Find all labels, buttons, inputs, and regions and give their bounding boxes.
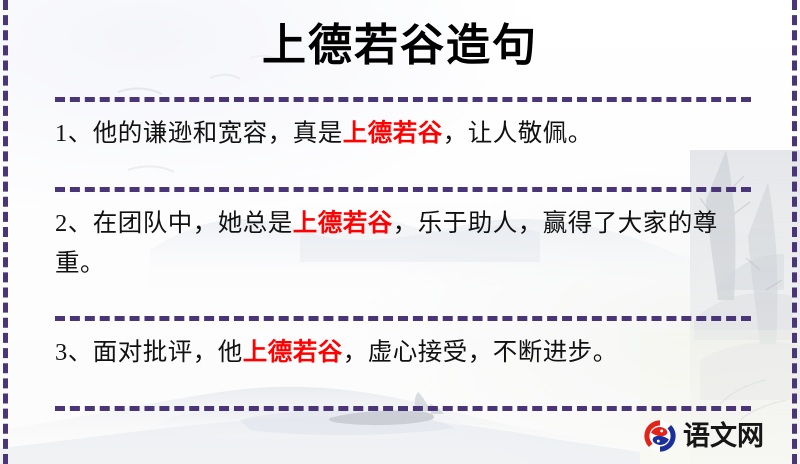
sentence-3-keyword: 上德若谷 bbox=[243, 339, 343, 366]
sentence-2-index: 2、 bbox=[55, 210, 93, 237]
sentence-3-before: 面对批评，他 bbox=[93, 339, 243, 366]
sentence-1-after: ，让人敬佩。 bbox=[443, 120, 593, 147]
sentence-3-index: 3、 bbox=[55, 339, 93, 366]
divider-rule-4 bbox=[55, 406, 751, 411]
yinyang-circle-icon bbox=[643, 419, 677, 453]
sentence-2-keyword: 上德若谷 bbox=[293, 210, 393, 237]
site-logo[interactable]: 语文网 bbox=[643, 419, 764, 453]
sentence-1-keyword: 上德若谷 bbox=[343, 120, 443, 147]
sentence-item-1: 1、他的谦逊和宽容，真是上德若谷，让人敬佩。 bbox=[18, 102, 782, 166]
sentence-item-2: 2、在团队中，她总是上德若谷，乐于助人，赢得了大家的尊重。 bbox=[18, 192, 782, 296]
right-dashed-border bbox=[792, 0, 797, 464]
site-logo-text: 语文网 bbox=[683, 423, 764, 450]
sentence-1-index: 1、 bbox=[55, 120, 93, 147]
sentence-item-3: 3、面对批评，他上德若谷，虚心接受，不断进步。 bbox=[18, 321, 782, 385]
sentence-3-after: ，虚心接受，不断进步。 bbox=[343, 339, 618, 366]
sentence-1-before: 他的谦逊和宽容，真是 bbox=[93, 120, 343, 147]
page-title: 上德若谷造句 bbox=[18, 0, 782, 68]
sentence-2-before: 在团队中，她总是 bbox=[93, 210, 293, 237]
slide-page: 上德若谷造句 1、他的谦逊和宽容，真是上德若谷，让人敬佩。 2、在团队中，她总是… bbox=[0, 0, 800, 464]
left-dashed-border bbox=[3, 0, 8, 464]
content-area: 上德若谷造句 1、他的谦逊和宽容，真是上德若谷，让人敬佩。 2、在团队中，她总是… bbox=[0, 0, 800, 464]
